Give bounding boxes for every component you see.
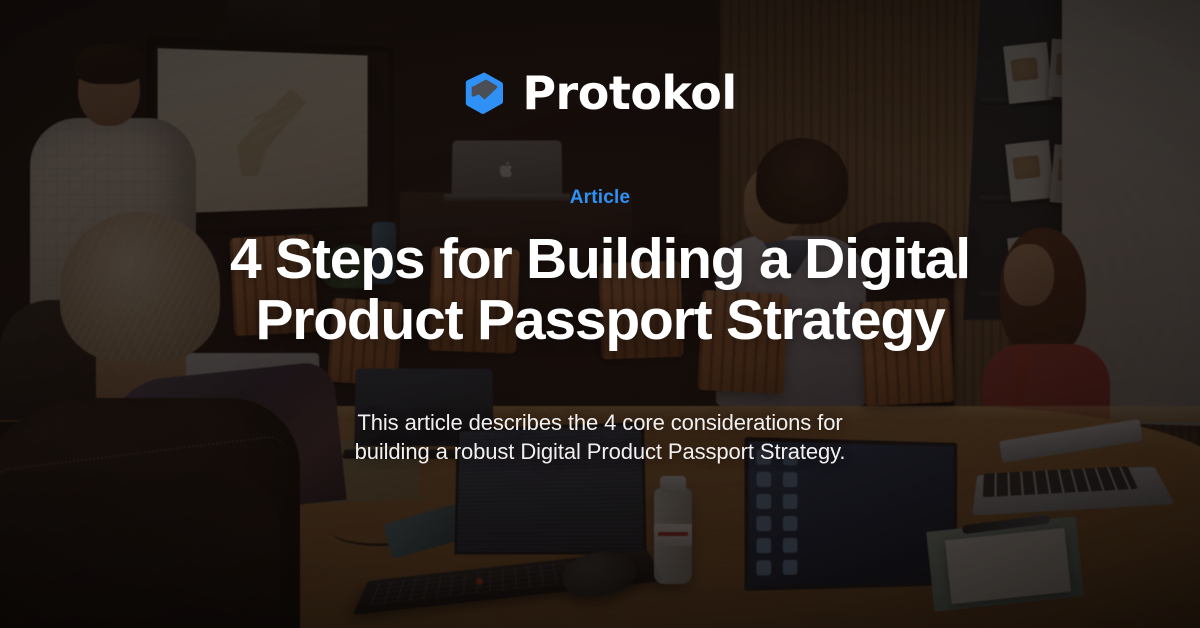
article-category-label: Article	[570, 188, 631, 207]
headline-line-1: 4 Steps for Building a Digital	[230, 229, 970, 290]
subhead-line-2: building a robust Digital Product Passpo…	[355, 438, 846, 467]
brand-lockup[interactable]: Protokol	[463, 70, 736, 116]
article-hero-card: Protokol Article 4 Steps for Building a …	[0, 0, 1200, 628]
headline-line-2: Product Passport Strategy	[230, 290, 970, 351]
subhead-line-1: This article describes the 4 core consid…	[355, 409, 846, 438]
brand-wordmark: Protokol	[522, 70, 736, 116]
hero-content: Protokol Article 4 Steps for Building a …	[0, 0, 1200, 628]
hexagon-notch-logo-icon	[463, 71, 507, 115]
page-subtitle: This article describes the 4 core consid…	[355, 409, 846, 466]
page-title: 4 Steps for Building a Digital Product P…	[230, 229, 970, 351]
